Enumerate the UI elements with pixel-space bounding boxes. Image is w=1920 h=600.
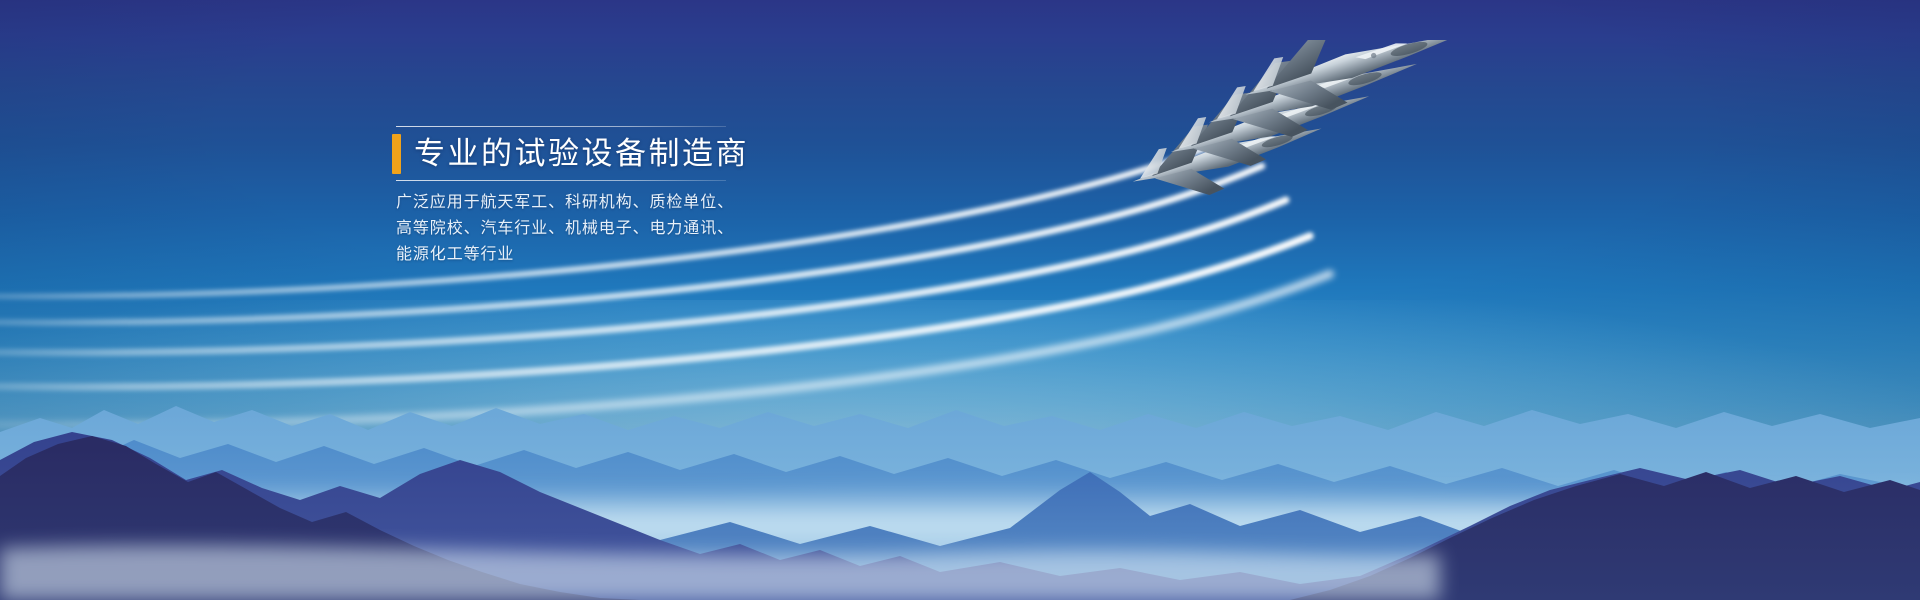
subtitle-line-2: 高等院校、汽车行业、机械电子、电力通讯、 [396,216,740,242]
jet-formation [1120,40,1540,280]
subtitle-line-1: 广泛应用于航天军工、科研机构、质检单位、 [396,190,740,216]
hero-copy: 专业的试验设备制造商 广泛应用于航天军工、科研机构、质检单位、 高等院校、汽车行… [390,126,740,268]
headline-rule-bottom [396,180,726,181]
hero-subtitle: 广泛应用于航天军工、科研机构、质检单位、 高等院校、汽车行业、机械电子、电力通讯… [396,190,740,268]
page-title: 专业的试验设备制造商 [414,135,749,173]
accent-bar-icon [392,134,401,174]
hero-banner: 专业的试验设备制造商 广泛应用于航天军工、科研机构、质检单位、 高等院校、汽车行… [0,0,1920,600]
subtitle-line-3: 能源化工等行业 [396,242,740,268]
mountain-range [0,340,1920,600]
headline-row: 专业的试验设备制造商 [390,127,740,180]
